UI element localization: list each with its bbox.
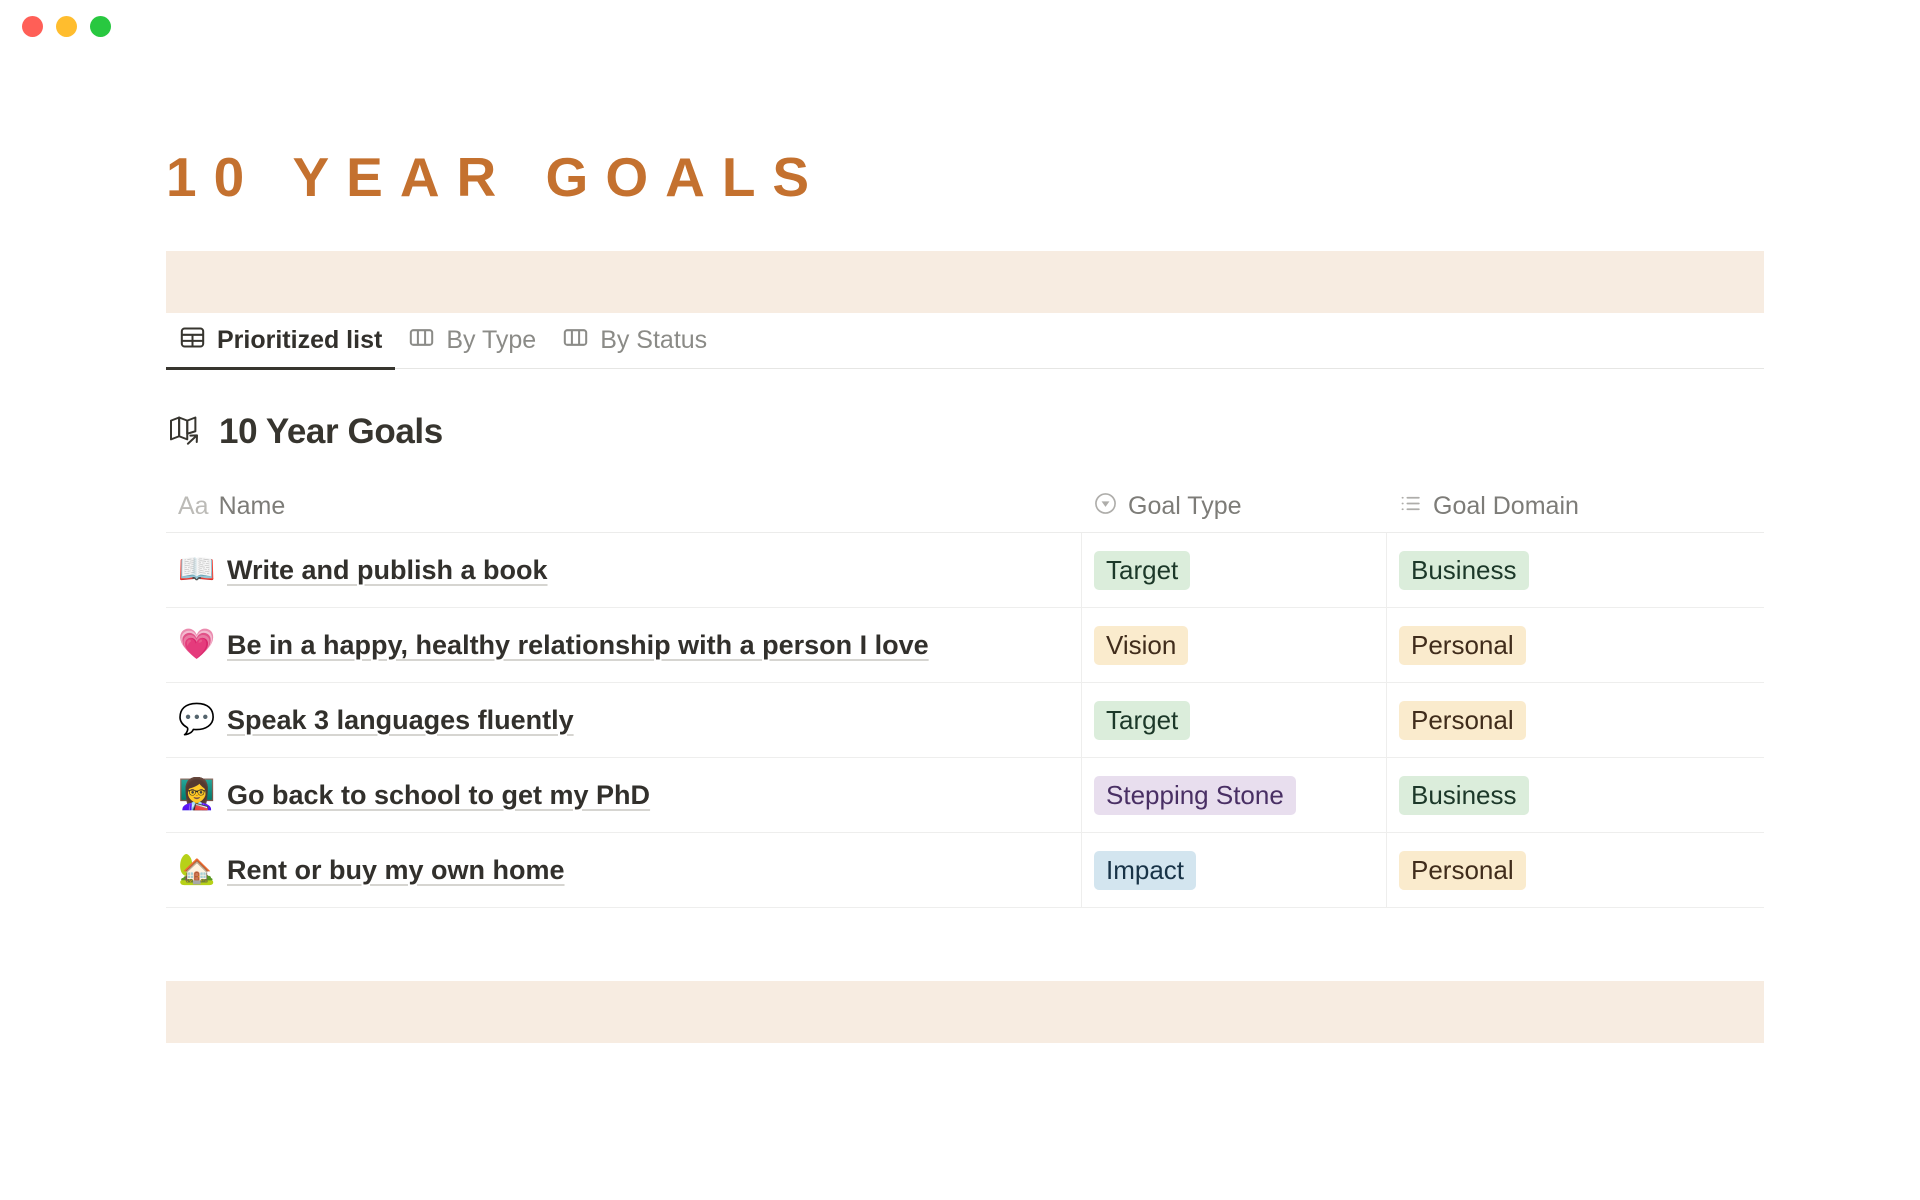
goal-domain-tag: Business bbox=[1399, 551, 1529, 590]
tab-by-status[interactable]: By Status bbox=[549, 312, 720, 368]
database-title: 10 Year Goals bbox=[219, 412, 443, 452]
maximize-window-button[interactable] bbox=[90, 16, 111, 37]
cell-goal-domain[interactable]: Personal bbox=[1386, 608, 1764, 682]
goal-domain-tag: Personal bbox=[1399, 626, 1526, 665]
goal-domain-tag: Personal bbox=[1399, 701, 1526, 740]
goal-domain-tag: Business bbox=[1399, 776, 1529, 815]
cell-goal-domain[interactable]: Personal bbox=[1386, 683, 1764, 757]
tab-by-type[interactable]: By Type bbox=[395, 312, 549, 368]
board-icon bbox=[408, 324, 435, 356]
tab-label: By Status bbox=[600, 326, 707, 355]
close-window-button[interactable] bbox=[22, 16, 43, 37]
row-title-link[interactable]: Speak 3 languages fluently bbox=[227, 705, 574, 736]
table-row[interactable]: 🏡Rent or buy my own homeImpactPersonal bbox=[166, 833, 1764, 908]
cell-goal-type[interactable]: Impact bbox=[1081, 833, 1386, 907]
table-icon bbox=[179, 324, 206, 356]
row-title-link[interactable]: Go back to school to get my PhD bbox=[227, 780, 650, 811]
tab-prioritized-list[interactable]: Prioritized list bbox=[166, 312, 395, 368]
cell-goal-type[interactable]: Target bbox=[1081, 683, 1386, 757]
cell-name[interactable]: 📖Write and publish a book bbox=[166, 533, 1081, 607]
goals-table: Aa Name Goal Type bbox=[166, 480, 1764, 908]
goal-type-tag: Target bbox=[1094, 701, 1190, 740]
cell-goal-type[interactable]: Vision bbox=[1081, 608, 1386, 682]
cell-name[interactable]: 💬Speak 3 languages fluently bbox=[166, 683, 1081, 757]
database-header[interactable]: 10 Year Goals bbox=[166, 409, 1920, 455]
board-icon bbox=[562, 324, 589, 356]
open-book-emoji: 📖 bbox=[178, 555, 212, 585]
column-header-label: Goal Type bbox=[1128, 492, 1242, 521]
row-title-link[interactable]: Rent or buy my own home bbox=[227, 855, 565, 886]
select-chevron-icon bbox=[1093, 491, 1118, 521]
woman-teacher-emoji: 👩‍🏫 bbox=[178, 780, 212, 810]
column-header-goal-type[interactable]: Goal Type bbox=[1081, 480, 1386, 532]
goal-type-tag: Impact bbox=[1094, 851, 1196, 890]
house-with-garden-emoji: 🏡 bbox=[178, 855, 212, 885]
goal-type-tag: Vision bbox=[1094, 626, 1188, 665]
table-header-row: Aa Name Goal Type bbox=[166, 480, 1764, 533]
banner-top bbox=[166, 251, 1764, 313]
banner-bottom bbox=[166, 981, 1764, 1043]
tab-label: Prioritized list bbox=[217, 326, 382, 355]
table-row[interactable]: 💬Speak 3 languages fluentlyTargetPersona… bbox=[166, 683, 1764, 758]
cell-name[interactable]: 🏡Rent or buy my own home bbox=[166, 833, 1081, 907]
tab-label: By Type bbox=[446, 326, 536, 355]
table-row[interactable]: 💗Be in a happy, healthy relationship wit… bbox=[166, 608, 1764, 683]
folded-map-icon bbox=[166, 410, 206, 455]
cell-goal-type[interactable]: Target bbox=[1081, 533, 1386, 607]
multi-select-list-icon bbox=[1398, 491, 1423, 521]
column-header-name[interactable]: Aa Name bbox=[166, 480, 1081, 532]
view-tabs: Prioritized list By Type By Status bbox=[166, 313, 1764, 369]
column-header-label: Goal Domain bbox=[1433, 492, 1579, 521]
cell-name[interactable]: 👩‍🏫Go back to school to get my PhD bbox=[166, 758, 1081, 832]
goal-type-tag: Target bbox=[1094, 551, 1190, 590]
window-title-bar bbox=[0, 0, 1920, 52]
page-content: 10 YEAR GOALS Prioritized list bbox=[0, 52, 1920, 1043]
page-title: 10 YEAR GOALS bbox=[166, 150, 1920, 205]
cell-name[interactable]: 💗Be in a happy, healthy relationship wit… bbox=[166, 608, 1081, 682]
speech-balloon-emoji: 💬 bbox=[178, 705, 212, 735]
row-title-link[interactable]: Be in a happy, healthy relationship with… bbox=[227, 630, 929, 661]
minimize-window-button[interactable] bbox=[56, 16, 77, 37]
title-aa-icon: Aa bbox=[178, 494, 209, 519]
column-header-label: Name bbox=[219, 492, 286, 521]
column-header-goal-domain[interactable]: Goal Domain bbox=[1386, 480, 1764, 532]
table-body: 📖Write and publish a bookTargetBusiness💗… bbox=[166, 533, 1764, 908]
table-row[interactable]: 👩‍🏫Go back to school to get my PhDSteppi… bbox=[166, 758, 1764, 833]
cell-goal-domain[interactable]: Personal bbox=[1386, 833, 1764, 907]
row-title-link[interactable]: Write and publish a book bbox=[227, 555, 548, 586]
goal-type-tag: Stepping Stone bbox=[1094, 776, 1296, 815]
growing-heart-emoji: 💗 bbox=[178, 630, 212, 660]
goal-domain-tag: Personal bbox=[1399, 851, 1526, 890]
cell-goal-domain[interactable]: Business bbox=[1386, 533, 1764, 607]
cell-goal-type[interactable]: Stepping Stone bbox=[1081, 758, 1386, 832]
table-row[interactable]: 📖Write and publish a bookTargetBusiness bbox=[166, 533, 1764, 608]
cell-goal-domain[interactable]: Business bbox=[1386, 758, 1764, 832]
